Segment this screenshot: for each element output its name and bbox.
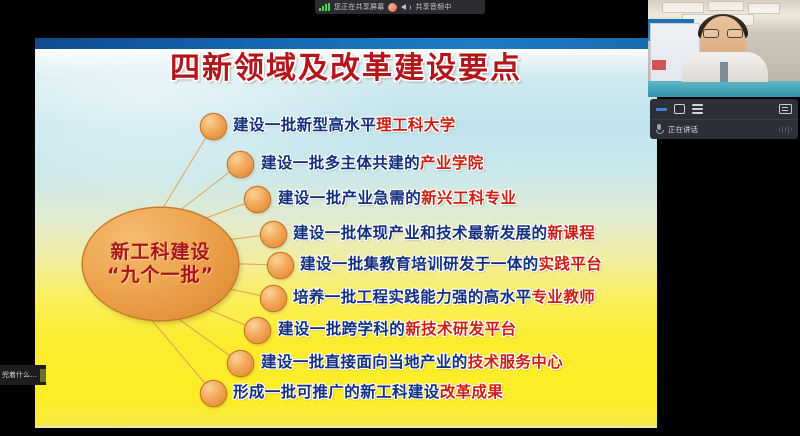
list-item: 培养一批工程实践能力强的高水平专业教师 [293,290,595,306]
item-text-normal: 建设一批产业急需的 [278,189,421,207]
item-text-highlight: 专业教师 [532,288,596,306]
hub-line-1: 新工科建设 [110,242,210,263]
item-text-normal: 建设一批跨学科的 [278,320,405,338]
item-text-highlight: 理工科大学 [376,116,456,134]
shared-slide: 四新领域及改革建设要点 新工科建设 “九个一批” [35,38,657,428]
audio-wave-icon [779,126,793,134]
maximize-icon[interactable] [674,104,685,114]
bullet-node [228,351,253,376]
item-text-normal: 建设一批集教育培训研发于一体的 [300,255,539,273]
bullet-node [245,187,270,212]
list-item: 建设一批体现产业和技术最新发展的新课程 [293,226,595,242]
item-text-normal: 建设一批新型高水平 [233,116,376,134]
bullet-node [268,253,293,278]
signal-icon [319,3,330,11]
item-text-highlight: 新兴工科专业 [421,189,516,207]
list-item: 建设一批跨学科的新技术研发平台 [278,322,517,338]
central-hub: 新工科建设 “九个一批” [83,208,238,320]
bullet-node [261,286,286,311]
hub-line-2: “九个一批” [107,265,214,286]
bullet-node [245,318,270,343]
participant-list-icon[interactable] [692,104,703,114]
list-item: 建设一批新型高水平理工科大学 [233,118,456,134]
video-panel[interactable]: 正在讲话 [648,0,800,155]
item-text-normal: 建设一批直接面向当地产业的 [261,353,468,371]
thumbnail-icon[interactable] [40,369,46,382]
bullet-node [201,114,226,139]
share-status-label: 您正在共享屏幕 [334,2,384,12]
list-item: 建设一批集教育培训研发于一体的实践平台 [300,257,602,273]
bullet-node [228,152,253,177]
item-text-highlight: 新课程 [547,224,595,242]
screen-share-bar[interactable]: 您正在共享屏幕 共享音频中 [315,0,485,14]
speaker-video[interactable] [648,0,800,97]
item-text-normal: 形成一批可推广的新工科建设 [233,383,440,401]
item-text-highlight: 新技术研发平台 [405,320,516,338]
list-item: 形成一批可推广的新工科建设改革成果 [233,385,503,401]
item-text-highlight: 实践平台 [539,255,603,273]
share-audio-label: 共享音频中 [415,2,451,12]
speaker-icon[interactable] [401,3,411,12]
item-text-normal: 建设一批多主体共建的 [261,154,420,172]
video-control-bar[interactable]: 正在讲话 [650,99,798,139]
bullet-node [201,381,226,406]
bullet-node [261,222,286,247]
list-item: 建设一批产业急需的新兴工科专业 [278,191,517,207]
item-text-highlight: 产业学院 [420,154,484,172]
speaking-label: 正在讲话 [668,124,698,135]
screen-capture: 您正在共享屏幕 共享音频中 四新领域及改革建设要点 新工科建设 [0,0,800,436]
item-text-normal: 建设一批体现产业和技术最新发展的 [293,224,547,242]
item-text-normal: 培养一批工程实践能力强的高水平 [293,288,532,306]
item-text-highlight: 技术服务中心 [468,353,563,371]
item-text-highlight: 改革成果 [440,383,504,401]
layout-panel-icon[interactable] [779,104,792,114]
minimize-icon[interactable] [656,108,667,111]
toast-text: 兜着什么… [2,370,37,380]
microphone-icon[interactable] [656,124,662,135]
list-item: 建设一批直接面向当地产业的技术服务中心 [261,355,563,371]
pause-share-icon[interactable] [388,3,397,12]
list-item: 建设一批多主体共建的产业学院 [261,156,484,172]
chat-toast[interactable]: 兜着什么… [0,365,46,385]
